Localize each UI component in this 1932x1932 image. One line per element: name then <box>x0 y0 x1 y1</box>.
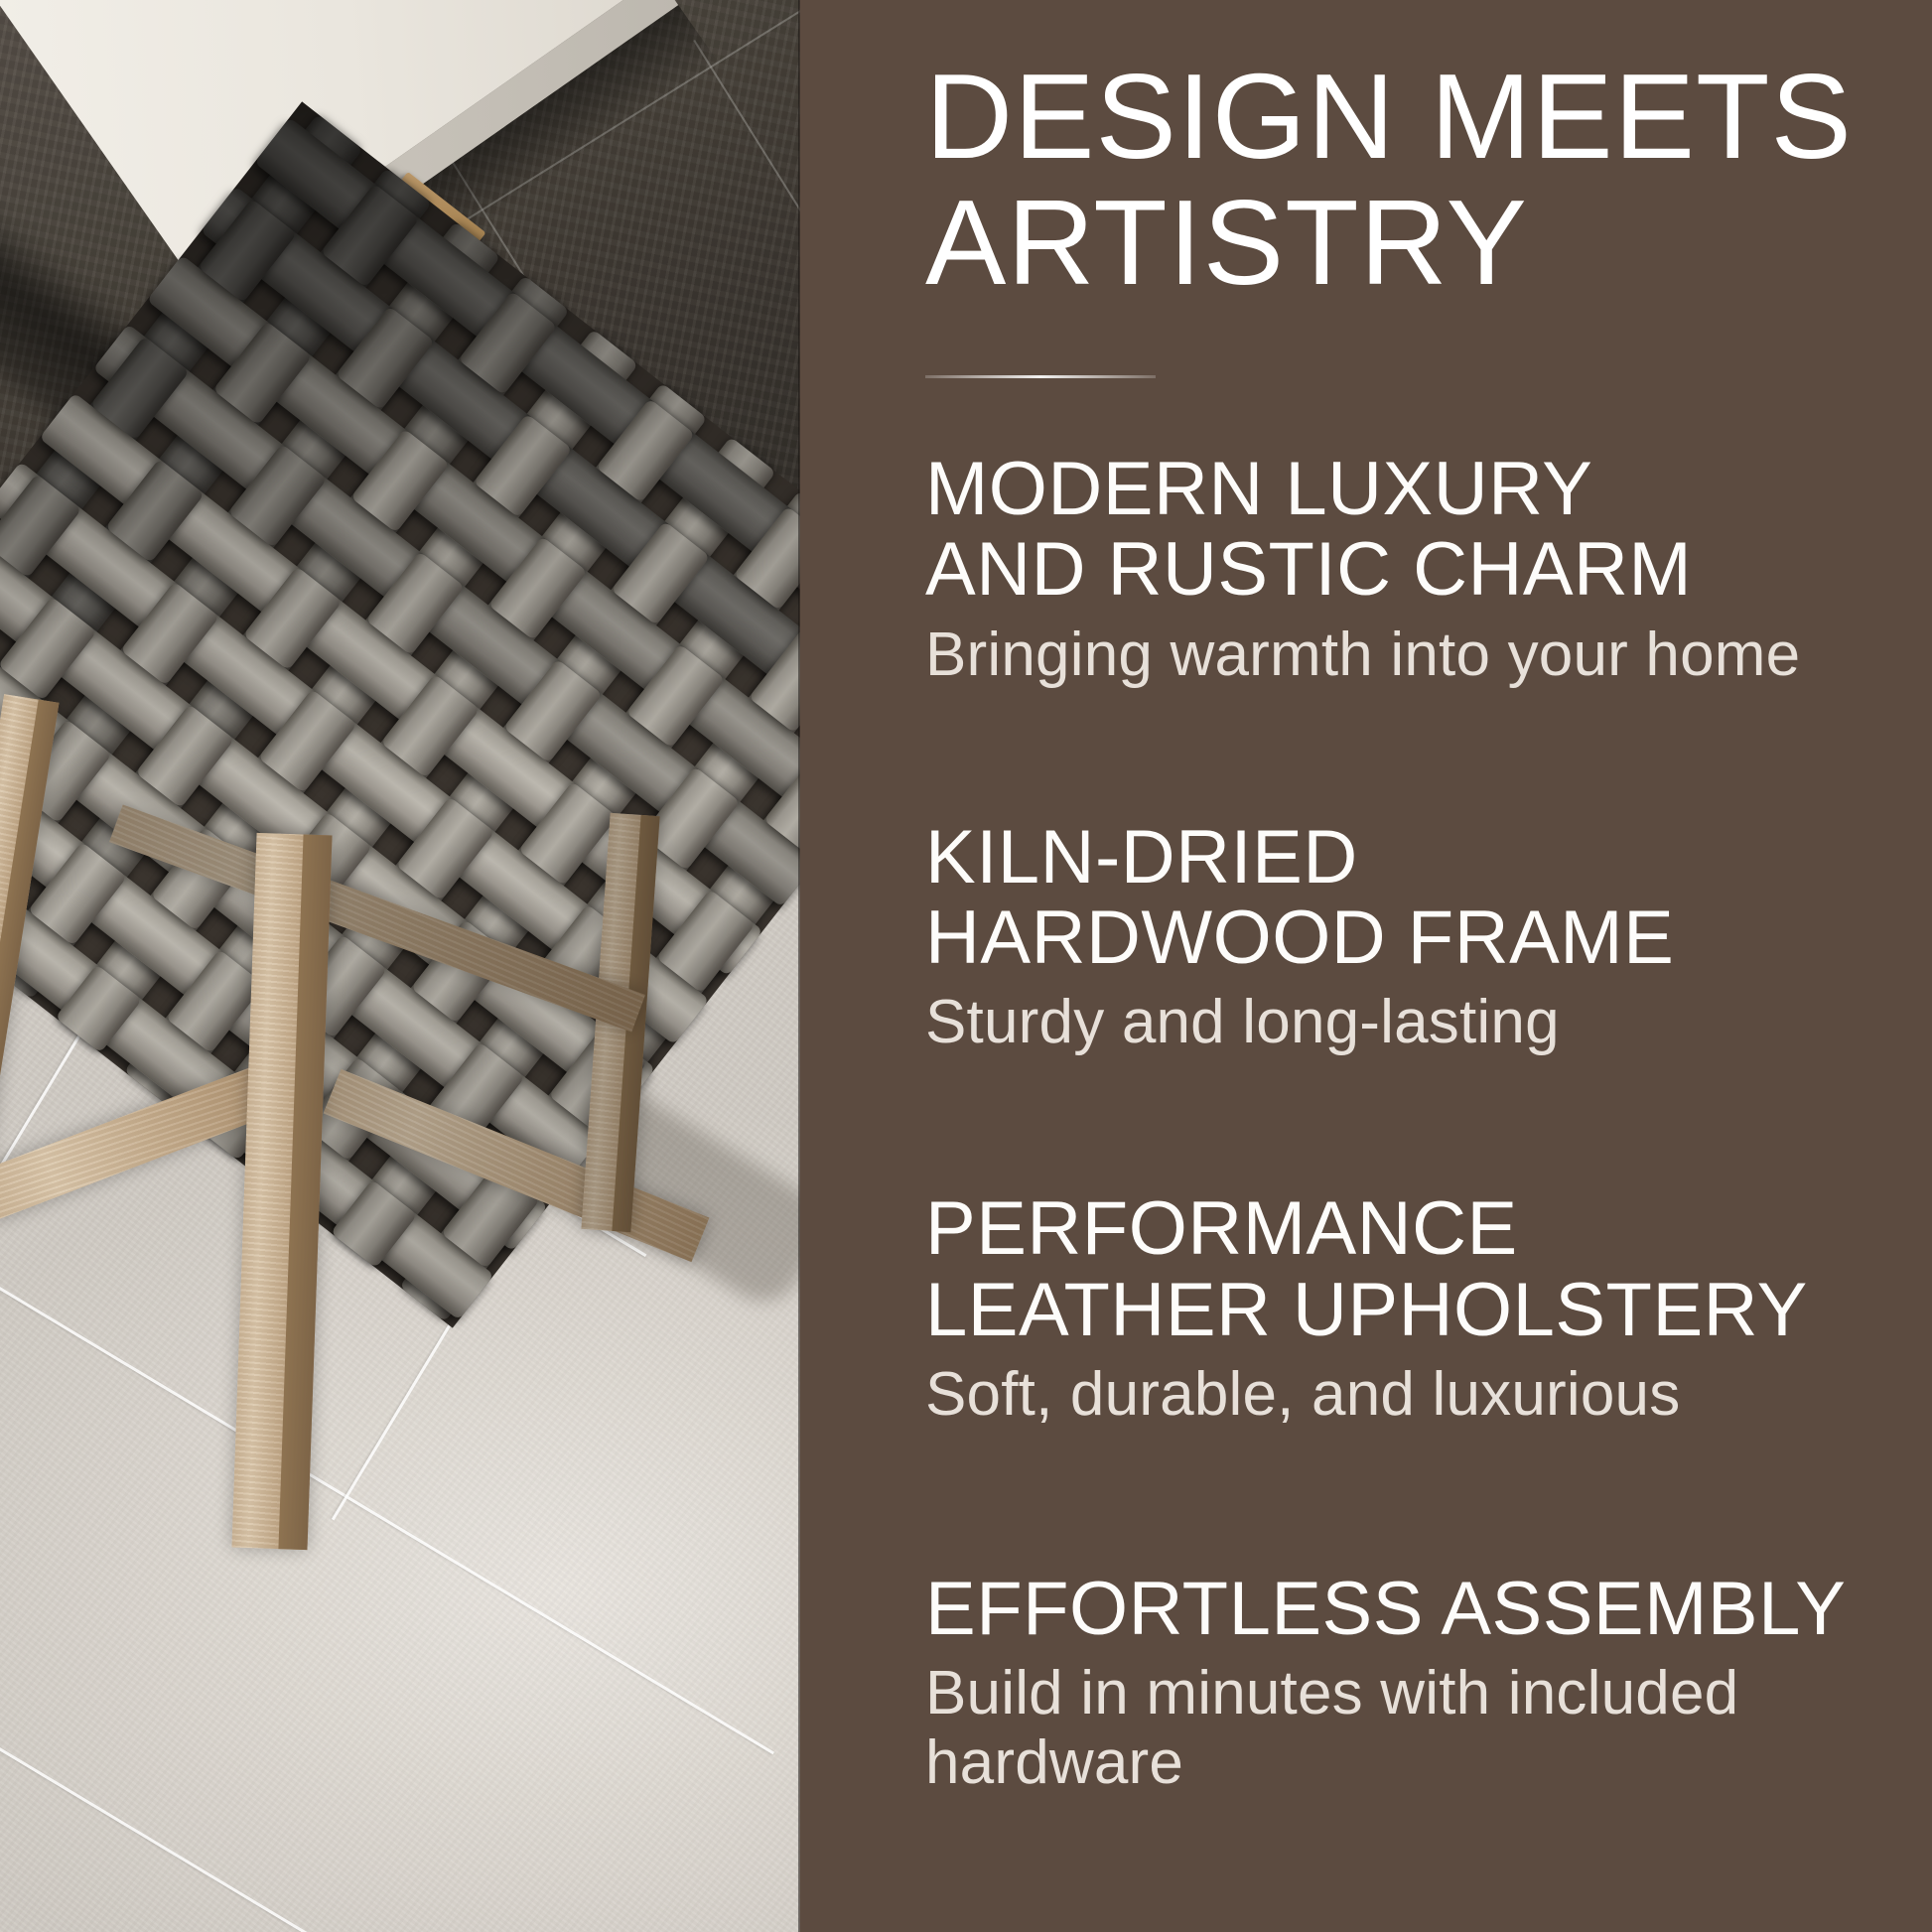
feature-subtext: Build in minutes with included hardware <box>925 1659 1898 1798</box>
feature-heading: MODERN LUXURY AND RUSTIC CHARM <box>925 449 1898 611</box>
product-photo <box>0 0 800 1932</box>
feature-heading: PERFORMANCE LEATHER UPHOLSTERY <box>925 1188 1898 1350</box>
feature-item-modern-luxury: MODERN LUXURY AND RUSTIC CHARM Bringing … <box>925 449 1898 690</box>
feature-item-kiln-dried: KILN-DRIED HARDWOOD FRAME Sturdy and lon… <box>925 817 1898 1058</box>
feature-item-effortless-assembly: EFFORTLESS ASSEMBLY Build in minutes wit… <box>925 1569 1898 1798</box>
product-feature-graphic: DESIGN MEETS ARTISTRY MODERN LUXURY AND … <box>0 0 1932 1932</box>
page-title: DESIGN MEETS ARTISTRY <box>925 54 1898 306</box>
feature-subtext: Sturdy and long-lasting <box>925 988 1898 1057</box>
title-divider <box>925 375 1156 378</box>
feature-spacer <box>925 1430 1898 1569</box>
feature-subtext: Bringing warmth into your home <box>925 621 1898 690</box>
feature-item-performance-leather: PERFORMANCE LEATHER UPHOLSTERY Soft, dur… <box>925 1188 1898 1430</box>
feature-heading: KILN-DRIED HARDWOOD FRAME <box>925 817 1898 979</box>
feature-heading: EFFORTLESS ASSEMBLY <box>925 1569 1898 1649</box>
feature-spacer <box>925 690 1898 817</box>
feature-list: MODERN LUXURY AND RUSTIC CHARM Bringing … <box>925 449 1898 1798</box>
feature-spacer <box>925 1057 1898 1188</box>
feature-text-panel: DESIGN MEETS ARTISTRY MODERN LUXURY AND … <box>800 0 1932 1932</box>
feature-subtext: Soft, durable, and luxurious <box>925 1360 1898 1430</box>
